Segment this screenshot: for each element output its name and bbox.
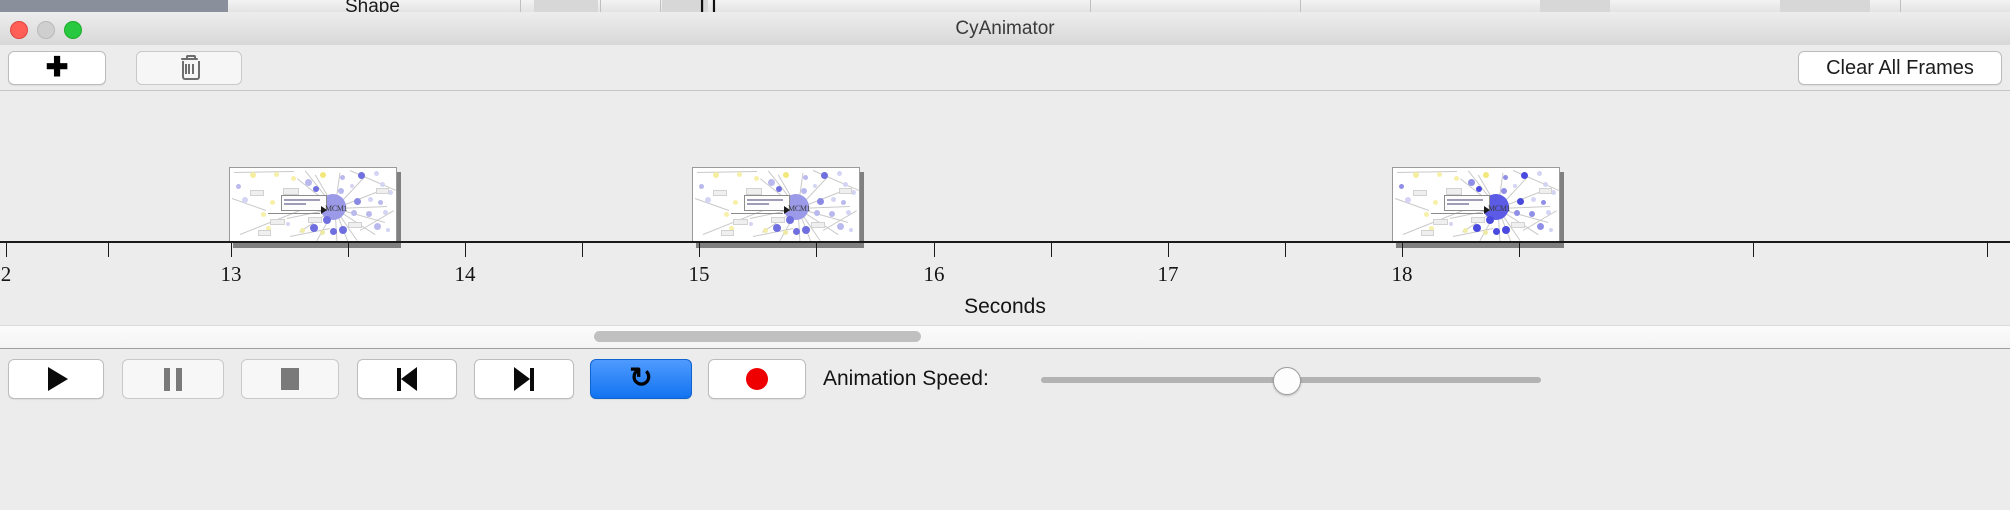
background-window-glyph: [ ] (700, 0, 716, 12)
pause-icon (164, 368, 182, 391)
axis-tick (1285, 243, 1286, 257)
background-window-strip: [ ] Shape (0, 0, 2010, 12)
animation-speed-label: Animation Speed: (823, 367, 989, 391)
axis-tick (1753, 243, 1754, 257)
record-button[interactable] (708, 359, 806, 399)
network-graph-thumbnail: MCM1 (693, 168, 859, 242)
axis-tick-label: 14 (455, 262, 476, 287)
background-window-menu-label: Shape (345, 0, 400, 12)
axis-tick (465, 243, 466, 257)
axis-tick (934, 243, 935, 257)
hub-node-label: MCM1 (788, 204, 810, 213)
toolbar: ✚ Clear All Frames (0, 45, 2010, 91)
trash-icon (181, 58, 198, 79)
axis-tick (582, 243, 583, 257)
axis-tick (108, 243, 109, 257)
cyanimator-window: [ ] Shape CyAnimator ✚ Clear All Fra (0, 0, 2010, 510)
axis-tick-label: 15 (689, 262, 710, 287)
axis-tick (816, 243, 817, 257)
axis-tick (1519, 243, 1520, 257)
loop-button[interactable]: ↻ (590, 359, 692, 399)
axis-tick (1051, 243, 1052, 257)
axis-title: Seconds (0, 295, 2010, 319)
skip-to-start-button[interactable] (357, 359, 457, 399)
frame-thumbnail-1[interactable]: MCM1 (229, 167, 397, 243)
axis-tick (1402, 243, 1403, 257)
axis-tick (1168, 243, 1169, 257)
plus-icon: ✚ (46, 54, 69, 81)
network-graph-thumbnail: MCM1 (1393, 168, 1559, 242)
animation-speed-slider-thumb[interactable] (1273, 367, 1301, 395)
loop-icon: ↻ (629, 364, 652, 392)
delete-frame-button[interactable] (136, 51, 242, 85)
play-button[interactable] (8, 359, 104, 399)
scrollbar-thumb[interactable] (594, 331, 921, 342)
pause-button[interactable] (122, 359, 224, 399)
window-title: CyAnimator (0, 12, 2010, 45)
timeline-canvas[interactable]: MCM1 MCM1 MCM1 (0, 91, 2010, 323)
axis-tick (6, 243, 7, 257)
skip-forward-icon (514, 367, 534, 391)
axis-tick (699, 243, 700, 257)
axis-tick-label: 16 (924, 262, 945, 287)
axis-tick (1987, 243, 1988, 257)
axis-tick (348, 243, 349, 257)
animation-speed-slider[interactable] (1041, 377, 1541, 383)
clear-all-frames-button[interactable]: Clear All Frames (1798, 51, 2002, 85)
network-graph-thumbnail: MCM1 (230, 168, 396, 242)
title-bar[interactable]: CyAnimator (0, 12, 2010, 46)
playback-bar: ↻ Animation Speed: (0, 348, 2010, 510)
stop-button[interactable] (241, 359, 339, 399)
hub-node-label: MCM1 (1488, 204, 1510, 213)
axis-tick-label: 2 (1, 262, 12, 287)
axis-tick-label: 17 (1158, 262, 1179, 287)
axis-tick-label: 13 (221, 262, 242, 287)
skip-to-end-button[interactable] (474, 359, 574, 399)
hub-node-label: MCM1 (325, 204, 347, 213)
add-frame-button[interactable]: ✚ (8, 51, 106, 85)
skip-back-icon (397, 367, 417, 391)
stop-icon (281, 368, 299, 390)
axis-tick-label: 18 (1392, 262, 1413, 287)
axis-tick (231, 243, 232, 257)
record-icon (746, 368, 768, 390)
frame-thumbnail-2[interactable]: MCM1 (692, 167, 860, 243)
play-icon (48, 367, 68, 391)
background-window-sidebar (0, 0, 228, 12)
horizontal-scrollbar[interactable] (0, 325, 2010, 349)
timeline-axis (0, 241, 2010, 243)
frame-thumbnail-3[interactable]: MCM1 (1392, 167, 1560, 243)
